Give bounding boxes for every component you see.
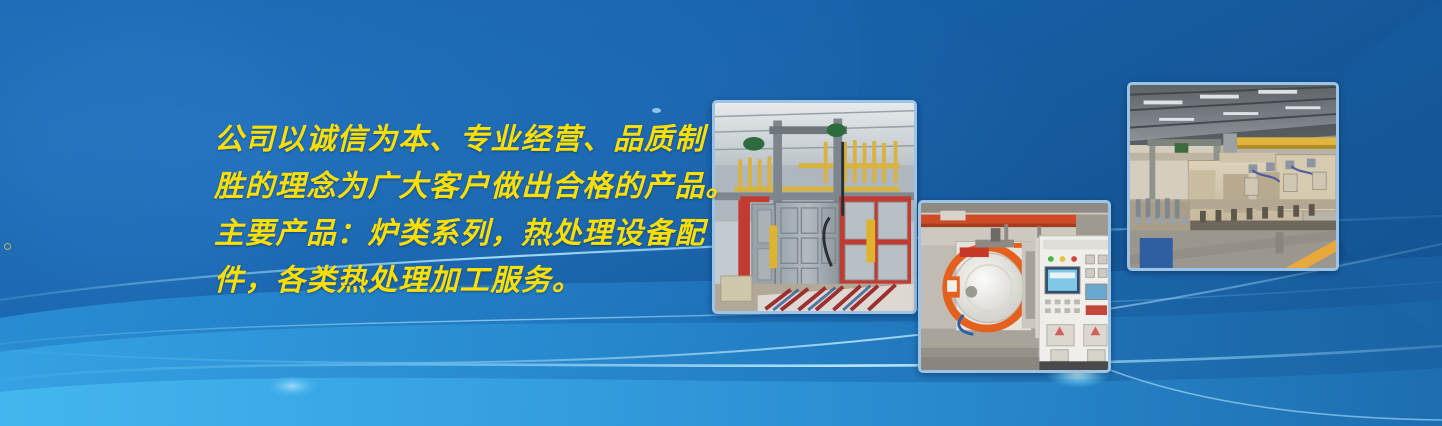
- box-type-furnace-image: [715, 103, 914, 311]
- vacuum-furnace-image: [921, 203, 1108, 370]
- headline-block: 公司以诚信为本、专业经营、品质制 胜的理念为广大客户做出合格的产品。 主要产品：…: [214, 116, 726, 304]
- headline-line-1: 公司以诚信为本、专业经营、品质制: [214, 116, 726, 163]
- headline-line-3: 主要产品：炉类系列，热处理设备配: [214, 210, 726, 257]
- vacuum-furnace-photo[interactable]: [918, 200, 1111, 373]
- company-intro-banner: 公司以诚信为本、专业经营、品质制 胜的理念为广大客户做出合格的产品。 主要产品：…: [0, 0, 1442, 426]
- box-type-furnace-photo[interactable]: [712, 100, 917, 314]
- headline-line-4: 件，各类热处理加工服务。: [214, 257, 726, 304]
- headline-line-2: 胜的理念为广大客户做出合格的产品。: [214, 163, 726, 210]
- continuous-furnace-line-image: [1130, 85, 1336, 268]
- continuous-furnace-line-photo[interactable]: [1127, 82, 1339, 271]
